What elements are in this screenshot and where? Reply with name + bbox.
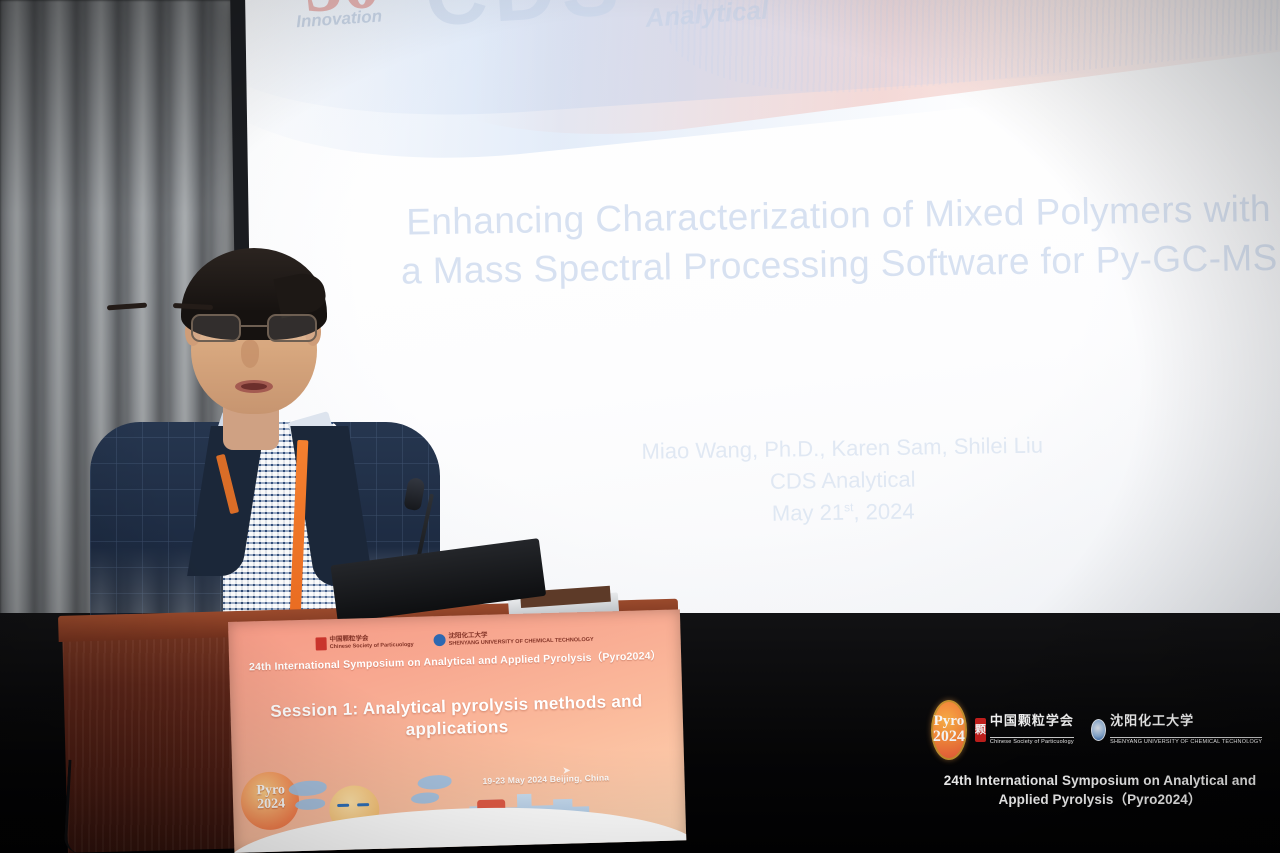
branding-logo-row: Pyro 2024 颗 中国颗粒学会 Chinese Society of Pa… [940, 699, 1260, 761]
university-logo: 沈阳化工大学 SHENYANG UNIVERSITY OF CHEMICAL T… [1091, 712, 1269, 748]
speaker-eyebrow-right [173, 303, 213, 310]
speaker-nose [241, 340, 259, 368]
tree-icon-3 [417, 775, 451, 790]
conference-photo: 50 Innovation CDS Analytical Enhancing C… [0, 0, 1280, 853]
branding-caption-line2: Applied Pyrolysis（Pyro2024） [940, 790, 1260, 809]
society-emblem-icon [315, 637, 326, 650]
branding-caption: 24th International Symposium on Analytic… [940, 771, 1260, 809]
university-seal-icon [1091, 719, 1106, 741]
eyeglasses-icon [187, 314, 321, 344]
podium-banner: 中国颗粒学会 Chinese Society of Particuology 沈… [228, 609, 686, 853]
university-logo-text: 沈阳化工大学 SHENYANG UNIVERSITY OF CHEMICAL T… [1110, 712, 1269, 748]
society-name-cn: 中国颗粒学会 [990, 713, 1074, 728]
banner-pyro-line2: 2024 [257, 796, 285, 812]
society-logo-text: 中国颗粒学会 Chinese Society of Particuology [990, 712, 1083, 748]
banner-society-logo: 中国颗粒学会 Chinese Society of Particuology [315, 634, 413, 651]
banner-society-text: 中国颗粒学会 Chinese Society of Particuology [329, 634, 413, 650]
pyro-logo-line1: Pyro [934, 714, 965, 729]
glasses-lens-left [191, 314, 241, 342]
university-name-en: SHENYANG UNIVERSITY OF CHEMICAL TECHNOLO… [1110, 737, 1262, 745]
slide-title: Enhancing Characterization of Mixed Poly… [398, 184, 1279, 296]
banner-university-text: 沈阳化工大学 SHENYANG UNIVERSITY OF CHEMICAL T… [448, 629, 593, 647]
slide-date-year: , 2024 [853, 498, 915, 524]
tree-icon-1 [288, 780, 326, 796]
tree-icon-4 [411, 792, 439, 804]
speaker-mouth-inner [241, 383, 267, 390]
mascot-eye-left [337, 804, 349, 807]
cds-subtitle: Analytical [645, 0, 770, 34]
university-name-cn: 沈阳化工大学 [1110, 713, 1194, 728]
pyro-2024-logo: Pyro 2024 [931, 700, 967, 760]
society-name-en: Chinese Society of Particuology [990, 737, 1074, 745]
society-seal-icon: 颗 [975, 718, 986, 742]
branding-caption-line1: 24th International Symposium on Analytic… [940, 771, 1260, 790]
pyro-logo-line2: 2024 [933, 729, 965, 745]
banner-session-title: Session 1: Analytical pyrolysis methods … [230, 689, 683, 745]
banner-illustration: Pyro 2024 ➤ 19-23 May 2024 Beijing, Chin… [232, 754, 686, 853]
banner-date-place: 19-23 May 2024 Beijing, China [482, 771, 672, 786]
university-emblem-icon [433, 634, 445, 646]
slide-author-block: Miao Wang, Ph.D., Karen Sam, Shilei Liu … [462, 427, 1223, 535]
anniversary-logo: 50 Innovation [297, 0, 412, 42]
banner-society-en: Chinese Society of Particuology [330, 641, 414, 649]
slide-date-day: May 21 [772, 499, 845, 525]
banner-university-logo: 沈阳化工大学 SHENYANG UNIVERSITY OF CHEMICAL T… [433, 629, 593, 647]
tree-icon-2 [295, 798, 325, 810]
society-logo: 颗 中国颗粒学会 Chinese Society of Particuology [975, 712, 1083, 748]
mascot-eye-right [357, 803, 369, 806]
glasses-lens-right [267, 314, 317, 342]
branding-overlay: Pyro 2024 颗 中国颗粒学会 Chinese Society of Pa… [940, 699, 1260, 841]
slide-date-ordinal: st [844, 500, 854, 514]
glasses-bridge [241, 325, 267, 327]
cds-wordmark: CDS [422, 0, 627, 46]
speaker-eyebrow-left [107, 303, 147, 311]
